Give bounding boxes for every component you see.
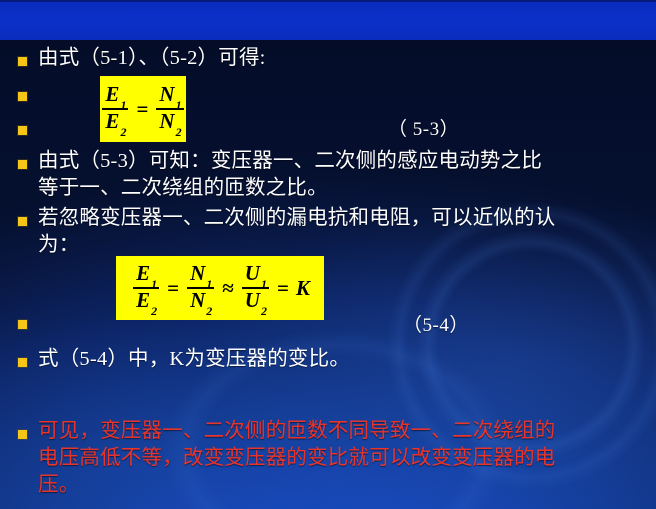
subscript-1: 1 (151, 277, 157, 291)
variable-E: E (105, 109, 119, 133)
fraction-numerator: E1 (133, 263, 159, 286)
fraction-e1-e2: E1 E2 (102, 84, 128, 135)
bullet-marker-7 (18, 358, 27, 367)
variable-U: U (245, 288, 260, 312)
bullet-marker-4 (18, 160, 27, 169)
formula-5-3-expression: E1 E2 = N1 N2 (99, 84, 186, 135)
fraction-numerator: E1 (102, 84, 128, 107)
bullet-marker-5 (18, 217, 27, 226)
operator-equals: = (167, 276, 179, 301)
fraction-denominator: E2 (102, 111, 128, 134)
variable-E: E (136, 261, 150, 285)
variable-N: N (159, 82, 174, 106)
bullet-text-4: 由式（5-3）可知：变压器一、二次侧的感应电动势之比 等于一、二次绕组的匝数之比… (38, 148, 646, 202)
bullet-marker-2 (18, 92, 27, 101)
fraction-denominator: E2 (133, 290, 159, 313)
operator-approx: ≈ (222, 276, 234, 301)
formula-box-5-3: E1 E2 = N1 N2 (100, 76, 186, 142)
operator-equals: = (136, 97, 148, 122)
bullet-text-5: 若忽略变压器一、二次侧的漏电抗和电阻，可以近似的认 为： (38, 205, 646, 259)
bullet-marker-3 (18, 126, 27, 135)
subscript-2: 2 (120, 125, 126, 139)
fraction-denominator: U2 (242, 290, 269, 313)
bullet-marker-1 (18, 57, 27, 66)
bullet-text-8-emphasis: 可见，变压器一、二次侧的匝数不同导致一、二次绕组的 电压高低不等，改变变压器的变… (38, 418, 650, 499)
fraction-n1-n2: N1 N2 (187, 263, 214, 314)
subscript-2: 2 (176, 125, 182, 139)
fraction-numerator: N1 (187, 263, 214, 286)
equation-label-5-3: （ 5-3） (388, 114, 459, 141)
fraction-e1-e2: E1 E2 (133, 263, 159, 314)
variable-K: K (296, 276, 310, 301)
bullet-marker-6 (18, 320, 27, 329)
fraction-numerator: U1 (242, 263, 269, 286)
formula-5-4-expression: E1 E2 = N1 N2 ≈ U1 U2 = K (130, 263, 310, 314)
variable-N: N (190, 261, 205, 285)
formula-box-5-4: E1 E2 = N1 N2 ≈ U1 U2 = K (116, 256, 324, 320)
fraction-u1-u2: U1 U2 (242, 263, 269, 314)
equation-label-5-4: （5-4） (403, 310, 469, 337)
fraction-denominator: N2 (156, 111, 183, 134)
subscript-2: 2 (151, 304, 157, 318)
subscript-1: 1 (206, 277, 212, 291)
bullet-text-1: 由式（5-1）、（5-2）可得: (38, 45, 638, 72)
bullet-marker-8 (18, 430, 27, 439)
presentation-slide: 由式（5-1）、（5-2）可得: E1 E2 = N1 N2 （ 5-3） 由式… (0, 0, 656, 509)
subscript-1: 1 (120, 98, 126, 112)
subscript-2: 2 (261, 304, 267, 318)
operator-equals: = (277, 276, 289, 301)
fraction-numerator: N1 (156, 84, 183, 107)
fraction-n1-n2: N1 N2 (156, 84, 183, 135)
subscript-2: 2 (206, 304, 212, 318)
variable-N: N (159, 109, 174, 133)
variable-E: E (136, 288, 150, 312)
bullet-text-7: 式（5-4）中，K为变压器的变比。 (38, 346, 646, 373)
variable-U: U (245, 261, 260, 285)
variable-N: N (190, 288, 205, 312)
slide-title-banner (0, 0, 656, 40)
variable-E: E (105, 82, 119, 106)
fraction-denominator: N2 (187, 290, 214, 313)
subscript-1: 1 (176, 98, 182, 112)
subscript-1: 1 (261, 277, 267, 291)
